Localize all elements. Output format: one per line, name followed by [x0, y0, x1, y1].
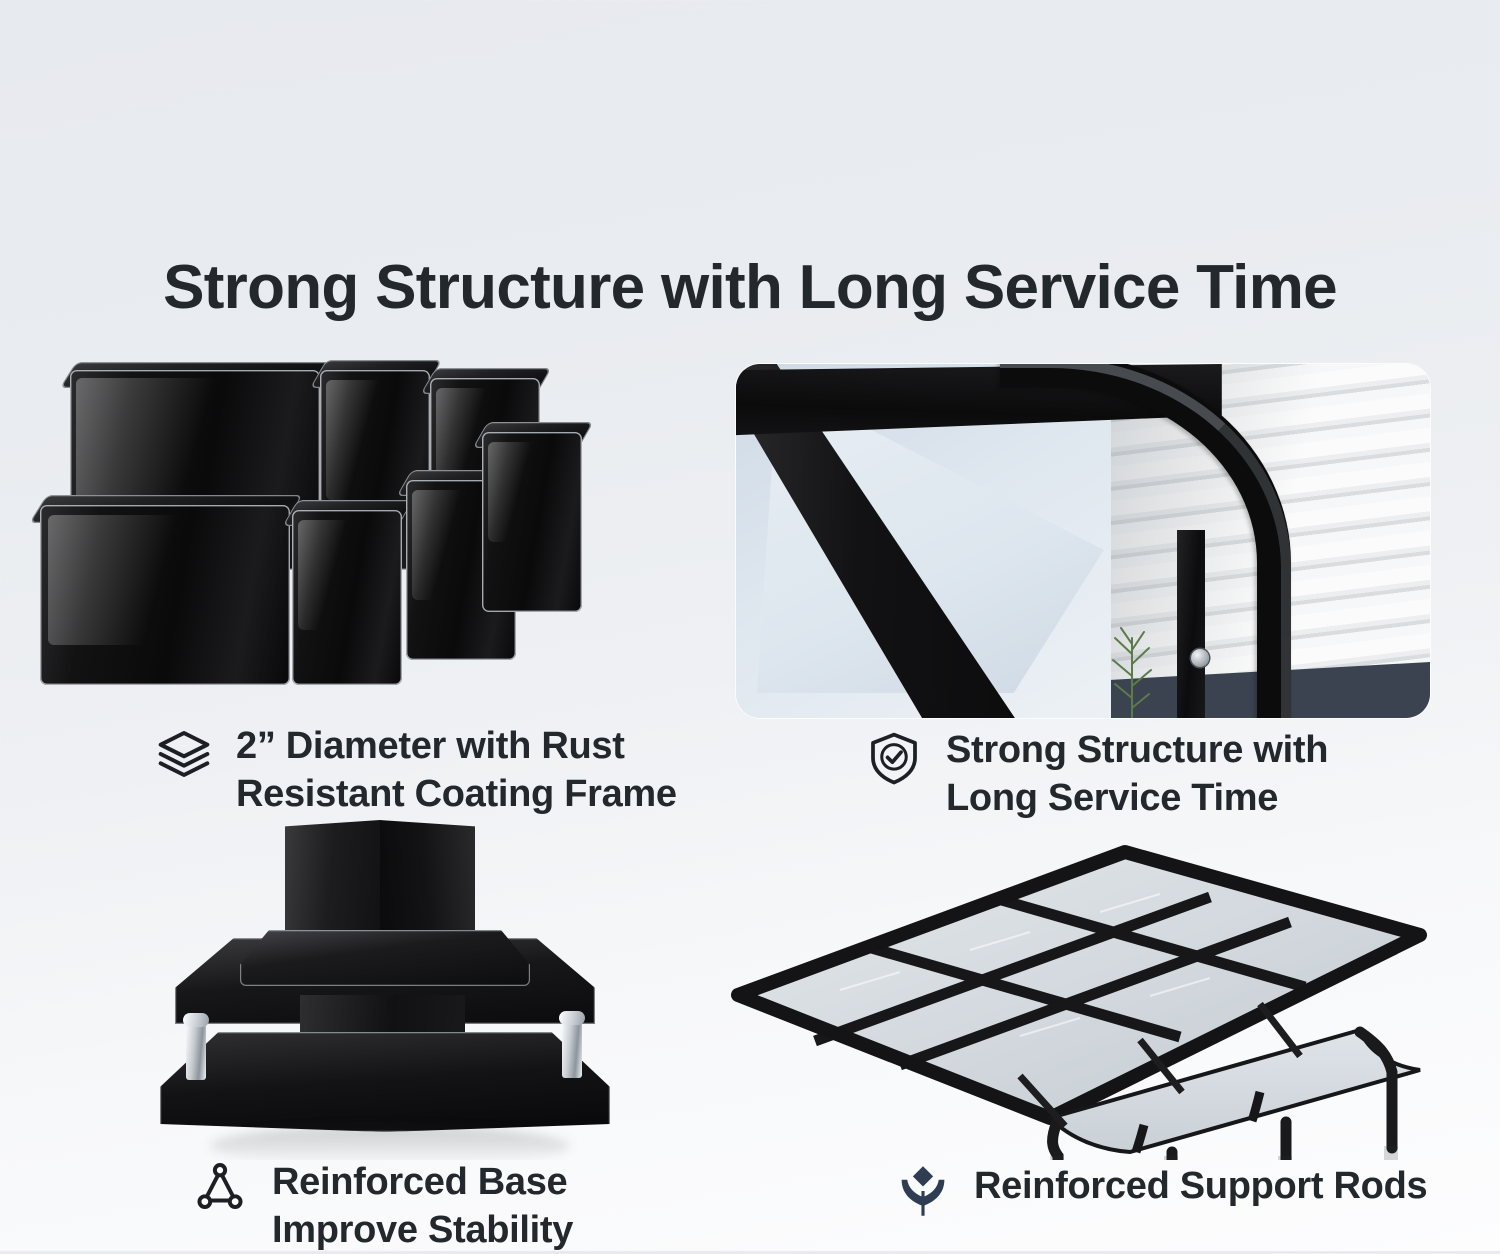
triangle-nodes-icon — [192, 1162, 248, 1218]
chevron-stack-icon — [896, 1164, 950, 1218]
carport-canopy-drawing — [720, 840, 1480, 1160]
vertical-post — [1177, 530, 1205, 718]
shield-check-icon — [866, 730, 922, 786]
anchor-bolt-right — [562, 1018, 582, 1078]
feature-label: Strong Structure with Long Service Time — [946, 726, 1328, 822]
feature-label: Reinforced Support Rods — [974, 1162, 1427, 1210]
plate-reflection — [210, 1126, 570, 1160]
infographic-canvas: Strong Structure with Long Service Time — [0, 0, 1500, 1251]
feature-reinforced-base: Reinforced Base Improve Stability — [192, 1158, 712, 1254]
plate-collar — [240, 930, 530, 986]
lower-plate — [160, 1032, 610, 1132]
layers-icon — [156, 726, 212, 782]
page-title: Strong Structure with Long Service Time — [0, 252, 1500, 323]
feature-diameter-coating: 2” Diameter with Rust Resistant Coating … — [156, 722, 736, 818]
feature-support-rods: Reinforced Support Rods — [896, 1162, 1456, 1218]
feature-strong-structure: Strong Structure with Long Service Time — [866, 726, 1386, 822]
carport-render-image — [720, 840, 1480, 1160]
base-plate-image — [150, 820, 620, 1160]
anchor-bolt-left — [186, 1020, 206, 1080]
steel-tubes-image — [30, 360, 720, 710]
feature-label: 2” Diameter with Rust Resistant Coating … — [236, 722, 677, 818]
feature-label: Reinforced Base Improve Stability — [272, 1158, 573, 1254]
pergola-beam-photo — [736, 364, 1430, 718]
